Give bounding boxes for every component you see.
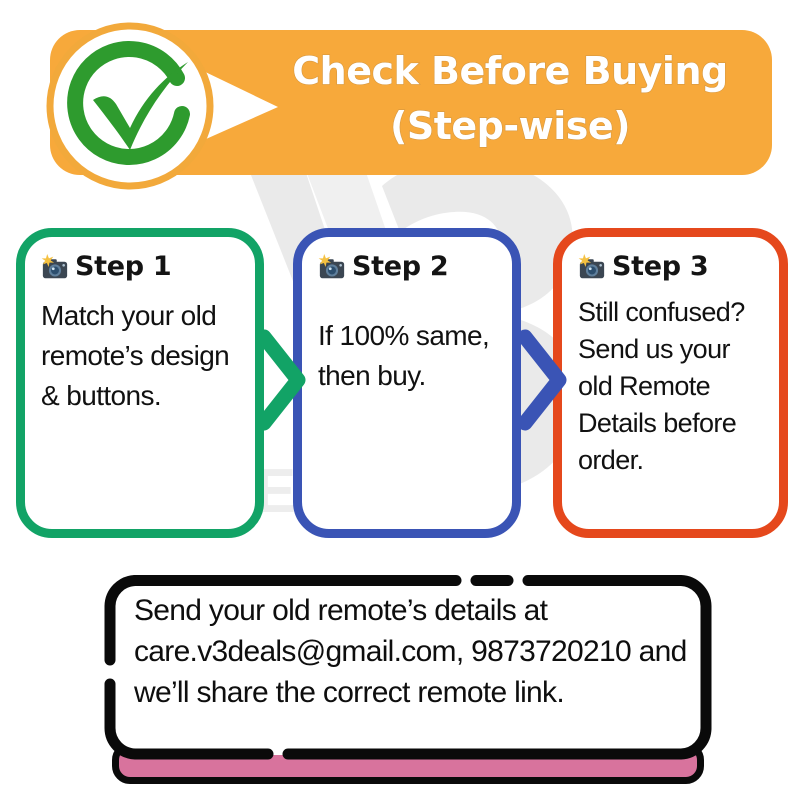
step-card-1[interactable]: Step 1 Match your old remote’s design & … (16, 228, 264, 538)
page-title: Check Before Buying (Step-wise) (255, 44, 765, 154)
camera-with-flash-icon (578, 254, 606, 280)
step-3-body: Still confused? Send us your old Remote … (578, 294, 765, 479)
step-2-body: If 100% same, then buy. (318, 316, 498, 396)
infographic-canvas: DEALS Check Before Buying (Step-wise) (0, 0, 800, 800)
step-2-heading: Step 2 (318, 251, 498, 282)
green-check-circle-icon (46, 22, 214, 190)
step-1-body: Match your old remote’s design & buttons… (41, 296, 241, 416)
page-title-line1: Check Before Buying (292, 49, 727, 93)
step-card-2[interactable]: Step 2 If 100% same, then buy. (293, 228, 521, 538)
page-title-line2: (Step-wise) (255, 99, 765, 154)
step-1-label: Step 1 (75, 251, 171, 282)
callout-message: Send your old remote’s details at care.v… (134, 590, 694, 713)
step-3-label: Step 3 (612, 251, 708, 282)
step-1-heading: Step 1 (41, 251, 241, 282)
chevron-right-green-icon (252, 325, 310, 435)
step-2-label: Step 2 (352, 251, 448, 282)
contact-callout[interactable]: Send your old remote’s details at care.v… (104, 574, 712, 760)
camera-with-flash-icon (41, 254, 69, 280)
camera-with-flash-icon (318, 254, 346, 280)
chevron-right-blue-icon (513, 325, 571, 435)
step-card-3[interactable]: Step 3 Still confused? Send us your old … (553, 228, 788, 538)
step-3-heading: Step 3 (578, 251, 765, 282)
